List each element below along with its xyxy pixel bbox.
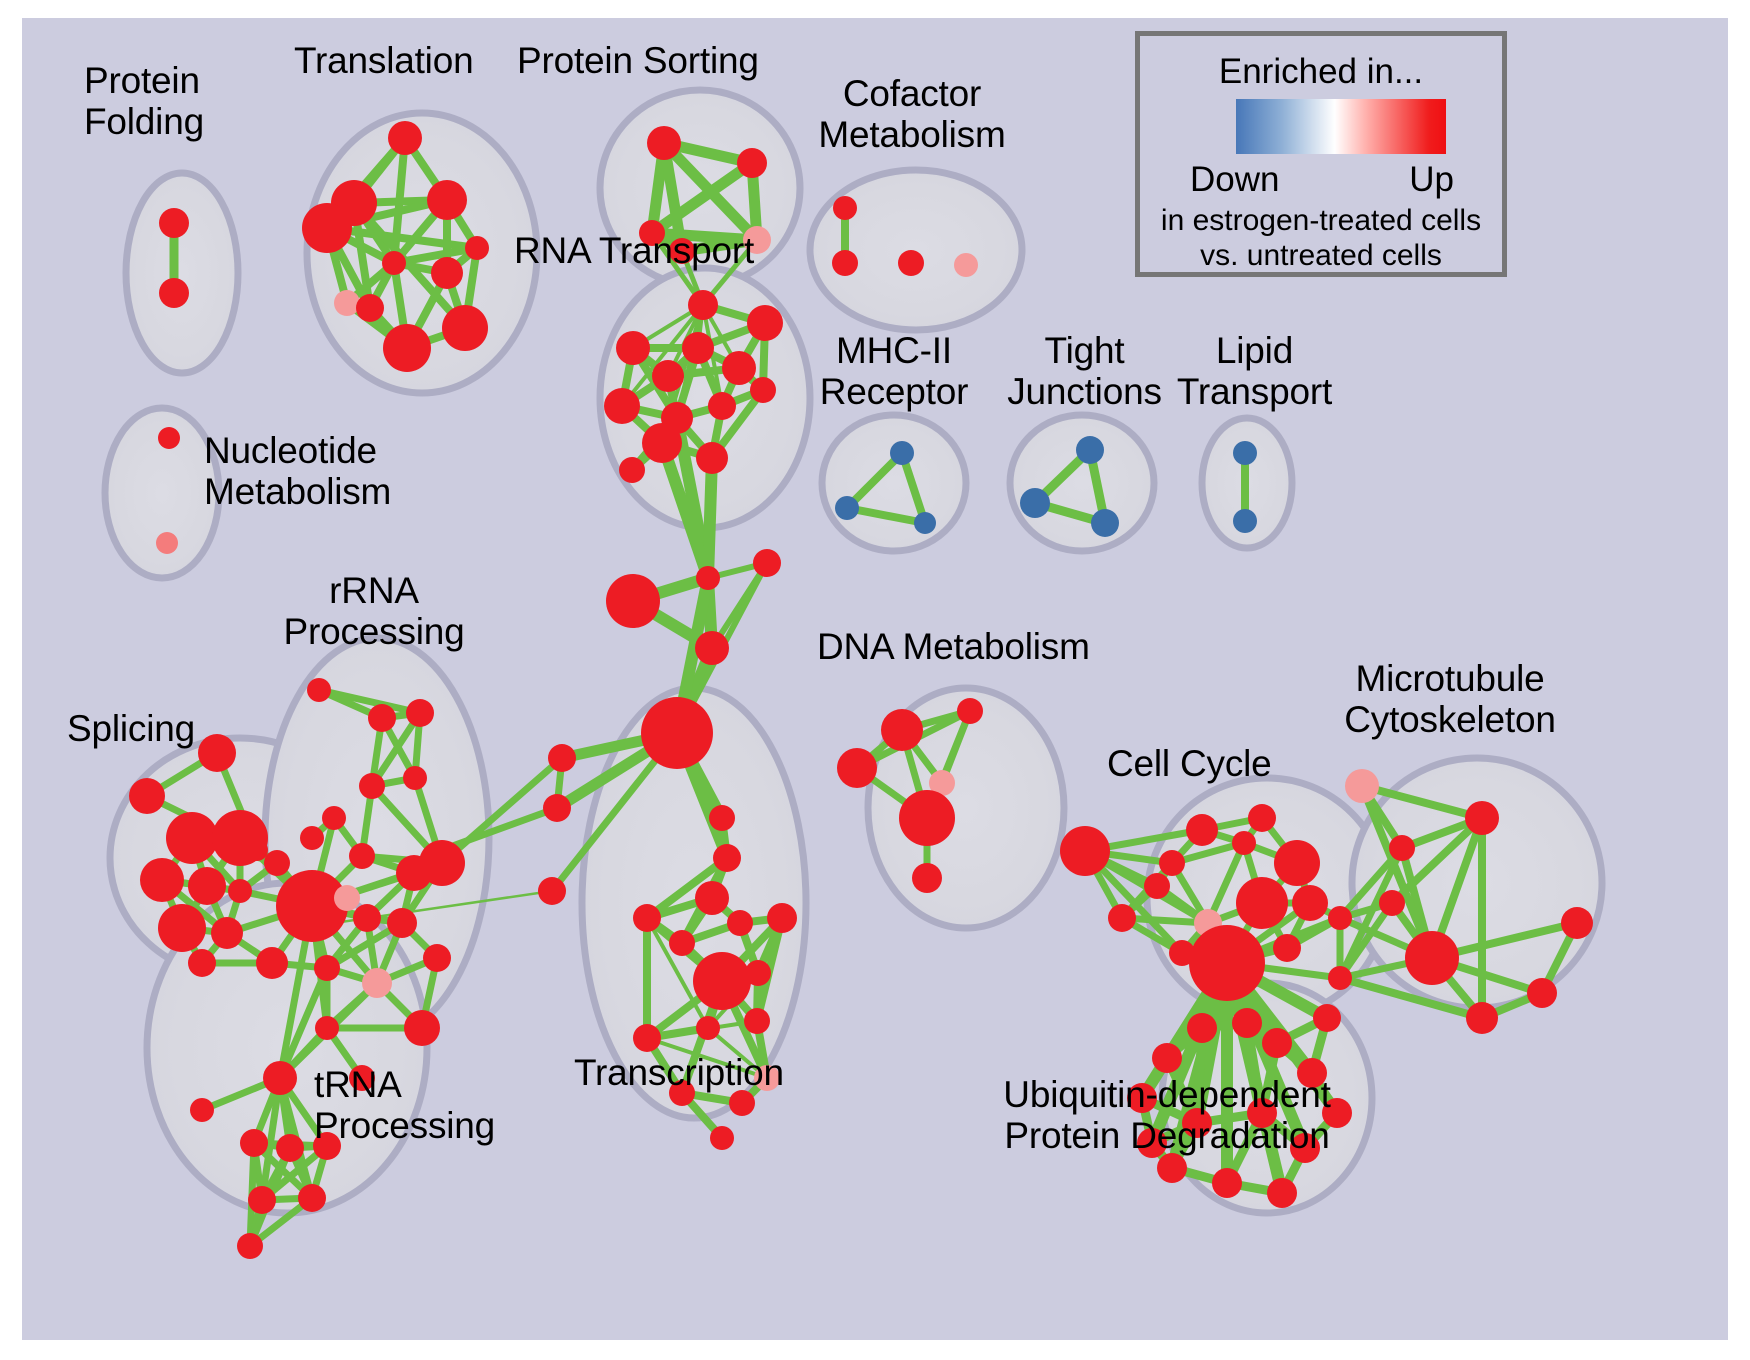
node xyxy=(406,699,434,727)
cluster-label-protein-folding: Protein Folding xyxy=(84,60,204,142)
cluster-label-protein-sorting: Protein Sorting xyxy=(517,40,759,81)
node xyxy=(708,392,736,420)
node xyxy=(633,1024,661,1052)
node xyxy=(538,877,566,905)
node xyxy=(465,236,489,260)
node xyxy=(403,766,427,790)
cluster-label-lipid-transport: Lipid Transport xyxy=(1172,330,1337,412)
node xyxy=(188,867,226,905)
node xyxy=(159,208,189,238)
node xyxy=(1466,1002,1498,1034)
node xyxy=(709,805,735,831)
node xyxy=(248,1186,276,1214)
node xyxy=(382,251,406,275)
node xyxy=(606,574,660,628)
node xyxy=(912,863,942,893)
node xyxy=(633,904,661,932)
node xyxy=(1274,840,1320,886)
node xyxy=(353,904,381,932)
node xyxy=(431,257,463,289)
node xyxy=(713,844,741,872)
cluster-label-transcription: Transcription xyxy=(574,1052,784,1093)
node xyxy=(696,1016,720,1040)
node xyxy=(1186,814,1218,846)
legend-high-label: Up xyxy=(1409,160,1454,200)
node xyxy=(881,709,923,751)
node xyxy=(1157,1153,1187,1183)
node xyxy=(1232,1008,1262,1038)
cluster-label-nucleotide-metabolism: Nucleotide Metabolism xyxy=(204,430,391,512)
node xyxy=(543,794,571,822)
node xyxy=(322,806,346,830)
node xyxy=(237,1233,263,1259)
node xyxy=(710,1126,734,1150)
cluster-label-translation: Translation xyxy=(294,40,473,81)
node xyxy=(695,881,729,915)
node xyxy=(914,512,936,534)
node xyxy=(832,250,858,276)
node xyxy=(1076,436,1104,464)
legend-panel: Enriched in... Down Up in estrogen-treat… xyxy=(1135,31,1507,277)
node xyxy=(1233,509,1257,533)
node xyxy=(1152,1043,1182,1073)
legend-title: Enriched in... xyxy=(1140,52,1502,92)
cluster-label-cell-cycle: Cell Cycle xyxy=(1107,743,1272,784)
node xyxy=(362,968,392,998)
node xyxy=(837,748,877,788)
node xyxy=(1108,904,1136,932)
node xyxy=(619,457,645,483)
node xyxy=(1189,925,1265,1001)
node xyxy=(833,196,857,220)
node xyxy=(307,678,331,702)
node xyxy=(604,388,640,424)
node xyxy=(1212,1168,1242,1198)
node xyxy=(682,332,714,364)
node xyxy=(359,773,385,799)
node xyxy=(696,442,728,474)
node xyxy=(419,840,465,886)
node xyxy=(548,744,576,772)
cluster-label-cofactor-metabolism: Cofactor Metabolism xyxy=(812,73,1012,155)
node xyxy=(383,324,431,372)
node xyxy=(166,812,218,864)
node xyxy=(1389,835,1415,861)
node xyxy=(737,148,767,178)
cluster-label-tight-junctions: Tight Junctions xyxy=(1002,330,1167,412)
node xyxy=(198,734,236,772)
node xyxy=(652,360,684,392)
node xyxy=(1527,978,1557,1008)
node xyxy=(669,930,695,956)
legend-low-label: Down xyxy=(1190,160,1279,200)
node xyxy=(696,566,720,590)
node xyxy=(302,203,352,253)
node xyxy=(276,1134,304,1162)
node xyxy=(898,250,924,276)
node xyxy=(1273,934,1301,962)
node xyxy=(835,496,859,520)
node xyxy=(264,850,290,876)
node xyxy=(1292,885,1328,921)
node xyxy=(263,1061,297,1095)
node xyxy=(616,331,650,365)
cluster-label-rna-transport: RNA Transport xyxy=(514,230,754,271)
node xyxy=(298,1184,326,1212)
node xyxy=(727,910,753,936)
node xyxy=(642,423,682,463)
node xyxy=(1379,890,1405,916)
node xyxy=(158,427,180,449)
node xyxy=(1159,850,1185,876)
node xyxy=(349,843,375,869)
network-canvas: Protein Folding Translation Protein Sort… xyxy=(22,18,1728,1340)
node xyxy=(211,917,243,949)
node xyxy=(423,944,451,972)
hull-tight-junctions xyxy=(1010,415,1154,551)
node xyxy=(1465,801,1499,835)
node xyxy=(334,885,360,911)
node xyxy=(750,377,776,403)
node xyxy=(1262,1028,1292,1058)
cluster-label-rrna-processing: rRNA Processing xyxy=(274,570,474,652)
node xyxy=(954,253,978,277)
node xyxy=(753,549,781,577)
node xyxy=(212,810,268,866)
node xyxy=(647,126,681,160)
node xyxy=(140,858,184,902)
node xyxy=(404,1010,440,1046)
node xyxy=(240,1129,268,1157)
legend-color-gradient xyxy=(1236,99,1446,154)
node xyxy=(1313,1004,1341,1032)
node xyxy=(256,947,288,979)
node xyxy=(1328,906,1352,930)
node xyxy=(693,952,751,1010)
node xyxy=(1561,907,1593,939)
node xyxy=(1187,1013,1217,1043)
node xyxy=(957,698,983,724)
node xyxy=(315,1016,339,1040)
node xyxy=(388,121,422,155)
node xyxy=(300,826,324,850)
node xyxy=(158,904,206,952)
node xyxy=(228,879,252,903)
node xyxy=(641,697,713,769)
node xyxy=(314,955,340,981)
node xyxy=(767,903,797,933)
node xyxy=(1248,804,1276,832)
cluster-label-splicing: Splicing xyxy=(67,708,195,749)
node xyxy=(356,294,384,322)
node xyxy=(1405,931,1459,985)
node xyxy=(1236,877,1288,929)
node xyxy=(1233,441,1257,465)
cluster-label-microtubule-cytoskeleton: Microtubule Cytoskeleton xyxy=(1310,658,1590,740)
node xyxy=(1267,1178,1297,1208)
node xyxy=(427,180,467,220)
cluster-label-ubiquitin-degradation: Ubiquitin-dependent Protein Degradation xyxy=(987,1074,1347,1156)
node xyxy=(722,351,756,385)
node xyxy=(899,790,955,846)
node xyxy=(695,631,729,665)
node xyxy=(729,1090,755,1116)
node xyxy=(156,532,178,554)
cluster-label-dna-metabolism: DNA Metabolism xyxy=(817,626,1090,667)
node xyxy=(744,1008,770,1034)
node xyxy=(688,290,718,320)
node xyxy=(1328,966,1352,990)
node xyxy=(1060,826,1110,876)
hull-protein-folding xyxy=(126,173,238,373)
node xyxy=(190,1098,214,1122)
node xyxy=(890,441,914,465)
node xyxy=(1144,873,1170,899)
hull-mhc2 xyxy=(822,415,966,551)
node xyxy=(129,778,165,814)
node xyxy=(159,278,189,308)
node xyxy=(747,305,783,341)
node xyxy=(368,704,396,732)
node xyxy=(1232,831,1256,855)
legend-subtitle-line1: in estrogen-treated cells xyxy=(1140,204,1502,238)
node xyxy=(387,908,417,938)
node xyxy=(1091,509,1119,537)
node xyxy=(334,290,360,316)
node xyxy=(1345,769,1379,803)
node xyxy=(1020,488,1050,518)
legend-subtitle-line2: vs. untreated cells xyxy=(1140,239,1502,273)
cluster-label-mhc-ii-receptor: MHC-II Receptor xyxy=(809,330,979,412)
enrichment-map-figure: Protein Folding Translation Protein Sort… xyxy=(0,0,1750,1360)
node xyxy=(188,949,216,977)
node xyxy=(442,305,488,351)
cluster-label-trna-processing: tRNA Processing xyxy=(314,1064,495,1146)
